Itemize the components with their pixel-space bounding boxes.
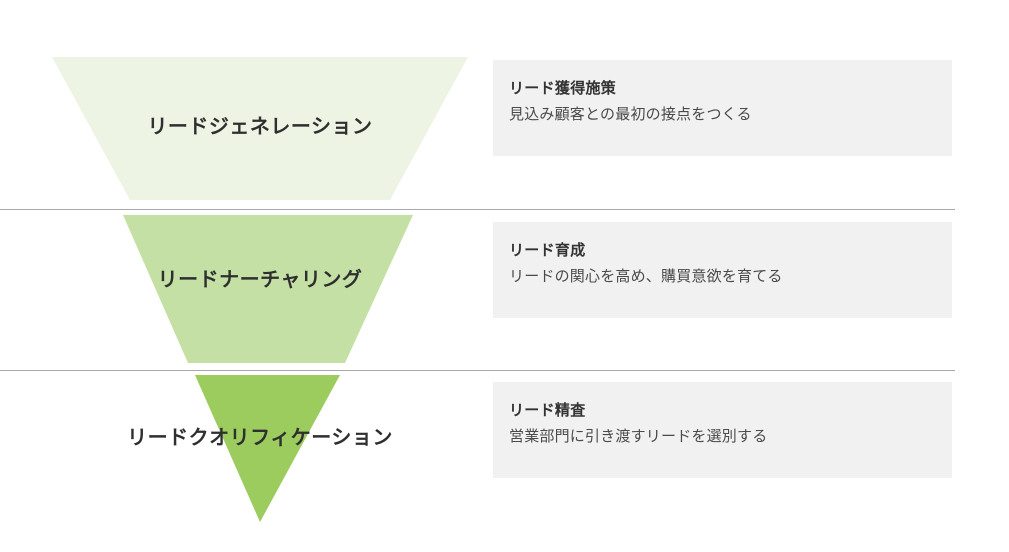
funnel-label-lead-qualification: リードクオリフィケーション — [0, 428, 520, 448]
funnel-label-lead-nurturing: リードナーチャリング — [0, 270, 520, 290]
stage-card-1[interactable]: リード獲得施策 見込み顧客との最初の接点をつくる — [493, 60, 952, 156]
stage-card-1-title: リード獲得施策 — [509, 78, 936, 101]
stage-card-2-description: リードの関心を高め、購買意欲を育てる — [509, 265, 936, 288]
stage-card-3-title: リード精査 — [509, 400, 936, 423]
stage-card-3[interactable]: リード精査 営業部門に引き渡すリードを選別する — [493, 382, 952, 478]
funnel-label-lead-generation: リードジェネレーション — [0, 117, 520, 137]
funnel-diagram-canvas: リードジェネレーション リードナーチャリング リードクオリフィケーション リード… — [0, 0, 1009, 552]
stage-card-1-description: 見込み顧客との最初の接点をつくる — [509, 103, 936, 126]
stage-card-2-title: リード育成 — [509, 240, 936, 263]
stage-card-3-description: 営業部門に引き渡すリードを選別する — [509, 425, 936, 448]
stage-card-2[interactable]: リード育成 リードの関心を高め、購買意欲を育てる — [493, 222, 952, 318]
